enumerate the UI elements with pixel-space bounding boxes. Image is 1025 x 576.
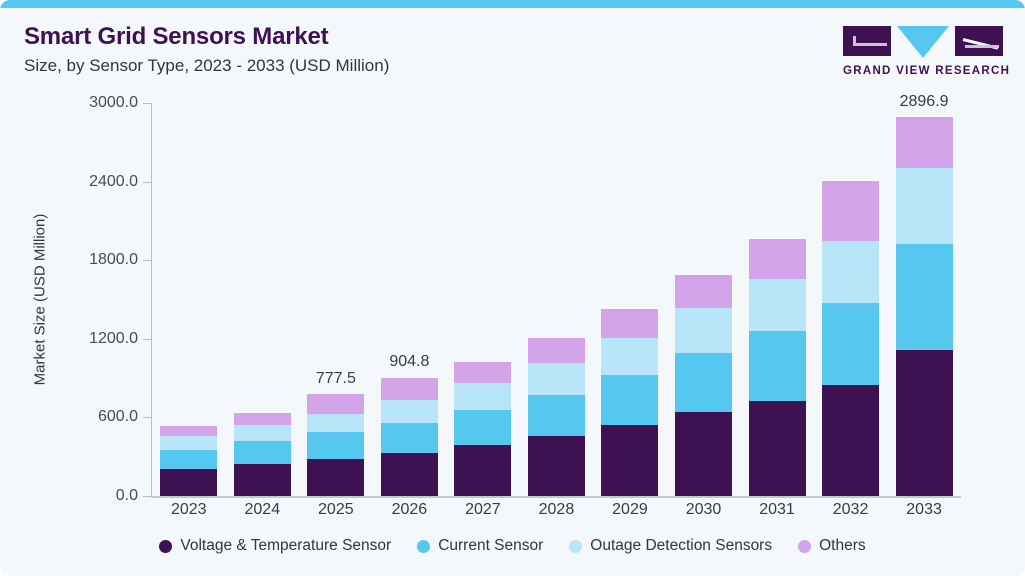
bar-column[interactable] [520,95,593,496]
y-axis-tick-label: 600.0 [98,408,138,426]
bar-column[interactable]: 904.8 [373,95,446,496]
bar-series-group: 777.5904.82896.9 [152,95,961,496]
x-axis-tick-label: 2032 [814,501,887,519]
bar-segment[interactable] [160,436,217,450]
bar-column[interactable] [446,95,519,496]
bar-segment[interactable] [234,413,291,424]
bar-segment[interactable] [896,244,953,350]
legend-item[interactable]: Outage Detection Sensors [569,537,772,555]
bar-segment[interactable] [601,425,658,496]
bar-segment[interactable] [160,426,217,435]
bar-column[interactable]: 777.5 [299,95,372,496]
x-axis-tick-label: 2031 [741,501,814,519]
x-axis-tick-label: 2029 [593,501,666,519]
legend-color-dot-icon [159,540,172,553]
bar-segment[interactable] [381,378,438,401]
plot-area: Market Size (USD Million) 0.0600.01200.0… [0,95,1025,515]
y-axis-ticks: 0.0600.01200.01800.02400.03000.0 [0,95,152,496]
bar-value-label: 777.5 [299,370,372,388]
bar-segment[interactable] [675,275,732,308]
bar-segment[interactable] [749,331,806,401]
bar-segment[interactable] [822,241,879,303]
bar-segment[interactable] [822,181,879,241]
bar-column[interactable] [226,95,299,496]
bar-column[interactable] [814,95,887,496]
x-axis-tick-label: 2030 [667,501,740,519]
bar-segment[interactable] [307,459,364,496]
legend-item[interactable]: Voltage & Temperature Sensor [159,537,391,555]
bar-segment[interactable] [601,375,658,425]
bar-segment[interactable] [675,353,732,413]
legend-label: Current Sensor [438,537,543,555]
bar-segment[interactable] [528,363,585,394]
legend-color-dot-icon [798,540,811,553]
bar-segment[interactable] [896,350,953,496]
legend-label: Voltage & Temperature Sensor [180,537,391,555]
bar-segment[interactable] [234,425,291,441]
bar-segment[interactable] [234,441,291,464]
logo-text: GRAND VIEW RESEARCH [843,65,1003,77]
x-axis-tick-label: 2024 [226,501,299,519]
chart-legend: Voltage & Temperature SensorCurrent Sens… [0,537,1025,555]
bar-segment[interactable] [454,362,511,383]
bar-segment[interactable] [160,450,217,470]
x-axis-tick-label: 2033 [888,501,961,519]
legend-label: Outage Detection Sensors [590,537,772,555]
bar-segment[interactable] [896,117,953,168]
bar-segment[interactable] [675,308,732,353]
x-axis-tick-label: 2023 [152,501,225,519]
x-axis-line [151,496,961,498]
bar-segment[interactable] [381,423,438,453]
bar-column[interactable] [152,95,225,496]
logo-box-right-icon [955,26,1003,56]
bar-segment[interactable] [381,400,438,422]
x-axis-tick-label: 2026 [373,501,446,519]
bar-segment[interactable] [454,383,511,409]
bar-segment[interactable] [601,309,658,337]
bar-segment[interactable] [454,445,511,496]
bar-segment[interactable] [896,168,953,244]
chart-card: Smart Grid Sensors Market Size, by Senso… [0,0,1025,576]
bar-column[interactable] [667,95,740,496]
chart-subtitle: Size, by Sensor Type, 2023 - 2033 (USD M… [24,54,389,78]
bar-segment[interactable] [822,303,879,386]
y-axis-tick-label: 3000.0 [89,94,138,112]
legend-color-dot-icon [417,540,430,553]
legend-item[interactable]: Current Sensor [417,537,543,555]
x-axis-ticks: 2023202420252026202720282029203020312032… [152,501,961,519]
bar-segment[interactable] [307,414,364,433]
legend-color-dot-icon [569,540,582,553]
y-axis-tick-label: 2400.0 [89,173,138,191]
x-axis-tick-label: 2025 [299,501,372,519]
logo-triangle-icon [897,26,949,58]
bar-segment[interactable] [822,385,879,496]
bar-column[interactable] [593,95,666,496]
chart-header: Smart Grid Sensors Market Size, by Senso… [24,22,389,78]
bar-value-label: 2896.9 [888,93,961,111]
legend-label: Others [819,537,866,555]
x-axis-tick-label: 2028 [520,501,593,519]
bar-segment[interactable] [528,338,585,363]
grand-view-research-logo: GRAND VIEW RESEARCH [843,26,1003,77]
bar-segment[interactable] [601,338,658,375]
bar-segment[interactable] [749,279,806,331]
bar-segment[interactable] [749,239,806,278]
bar-segment[interactable] [454,410,511,445]
bar-segment[interactable] [307,394,364,413]
bar-column[interactable] [741,95,814,496]
page-title: Smart Grid Sensors Market [24,22,389,52]
y-axis-tick-label: 1200.0 [89,330,138,348]
bar-segment[interactable] [528,436,585,496]
y-axis-tick-label: 0.0 [116,487,138,505]
x-axis-tick-label: 2027 [446,501,519,519]
bar-segment[interactable] [675,412,732,496]
bar-value-label: 904.8 [373,353,446,371]
bar-segment[interactable] [234,464,291,496]
y-axis-tick-label: 1800.0 [89,251,138,269]
bar-segment[interactable] [307,432,364,458]
legend-item[interactable]: Others [798,537,866,555]
logo-marks [843,26,1003,60]
bar-segment[interactable] [749,401,806,496]
bar-segment[interactable] [160,469,217,496]
bar-segment[interactable] [528,395,585,437]
bar-column[interactable]: 2896.9 [888,95,961,496]
logo-box-left-icon [843,26,891,56]
bar-segment[interactable] [381,453,438,496]
top-accent-bar [0,0,1025,8]
